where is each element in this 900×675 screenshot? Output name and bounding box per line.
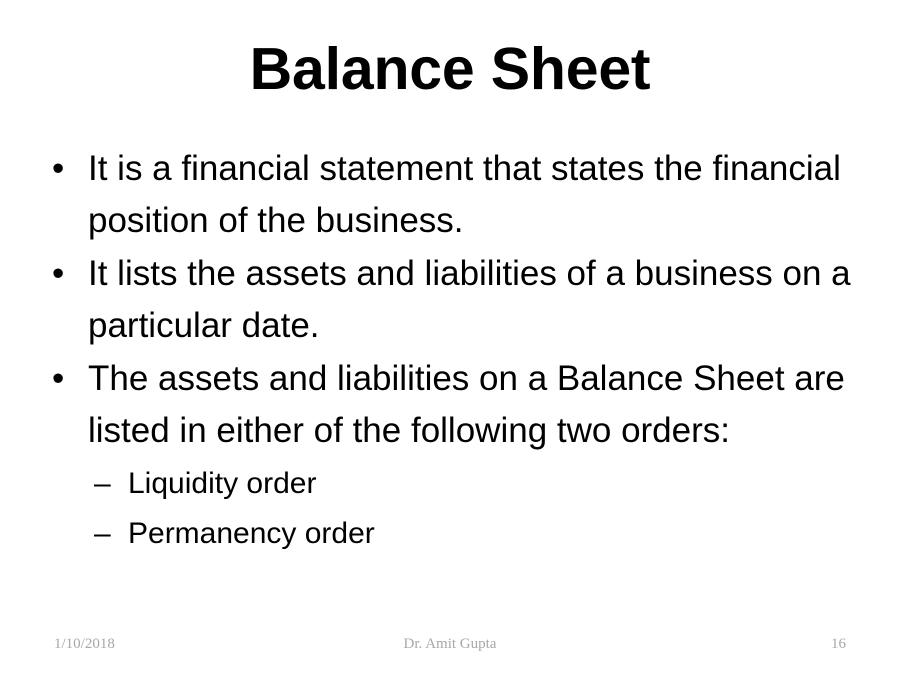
bullet-text: The assets and liabilities on a Balance … <box>88 353 866 457</box>
sub-bullet-text: Permanency order <box>128 509 866 559</box>
footer-author: Dr. Amit Gupta <box>0 632 900 656</box>
slide-body: • It is a financial statement that state… <box>48 143 866 559</box>
slide: Balance Sheet • It is a financial statem… <box>0 0 900 675</box>
sub-list-item: – Liquidity order <box>48 459 866 509</box>
footer-page-number: 16 <box>831 632 846 656</box>
list-item: • The assets and liabilities on a Balanc… <box>48 353 866 457</box>
bullet-dot-icon: • <box>52 143 64 195</box>
slide-footer: 1/10/2018 Dr. Amit Gupta 16 <box>0 632 900 656</box>
bullet-dot-icon: • <box>52 353 64 405</box>
sub-bullet-text: Liquidity order <box>128 459 866 509</box>
bullet-dash-icon: – <box>94 459 111 509</box>
list-item: • It lists the assets and liabilities of… <box>48 248 866 352</box>
sub-list-item: – Permanency order <box>48 509 866 559</box>
sub-list: – Liquidity order – Permanency order <box>48 459 866 559</box>
page-title: Balance Sheet <box>0 38 900 102</box>
list-item: • It is a financial statement that state… <box>48 143 866 247</box>
bullet-dash-icon: – <box>94 509 111 559</box>
bullet-dot-icon: • <box>52 248 64 300</box>
bullet-text: It lists the assets and liabilities of a… <box>88 248 866 352</box>
bullet-text: It is a financial statement that states … <box>88 143 866 247</box>
